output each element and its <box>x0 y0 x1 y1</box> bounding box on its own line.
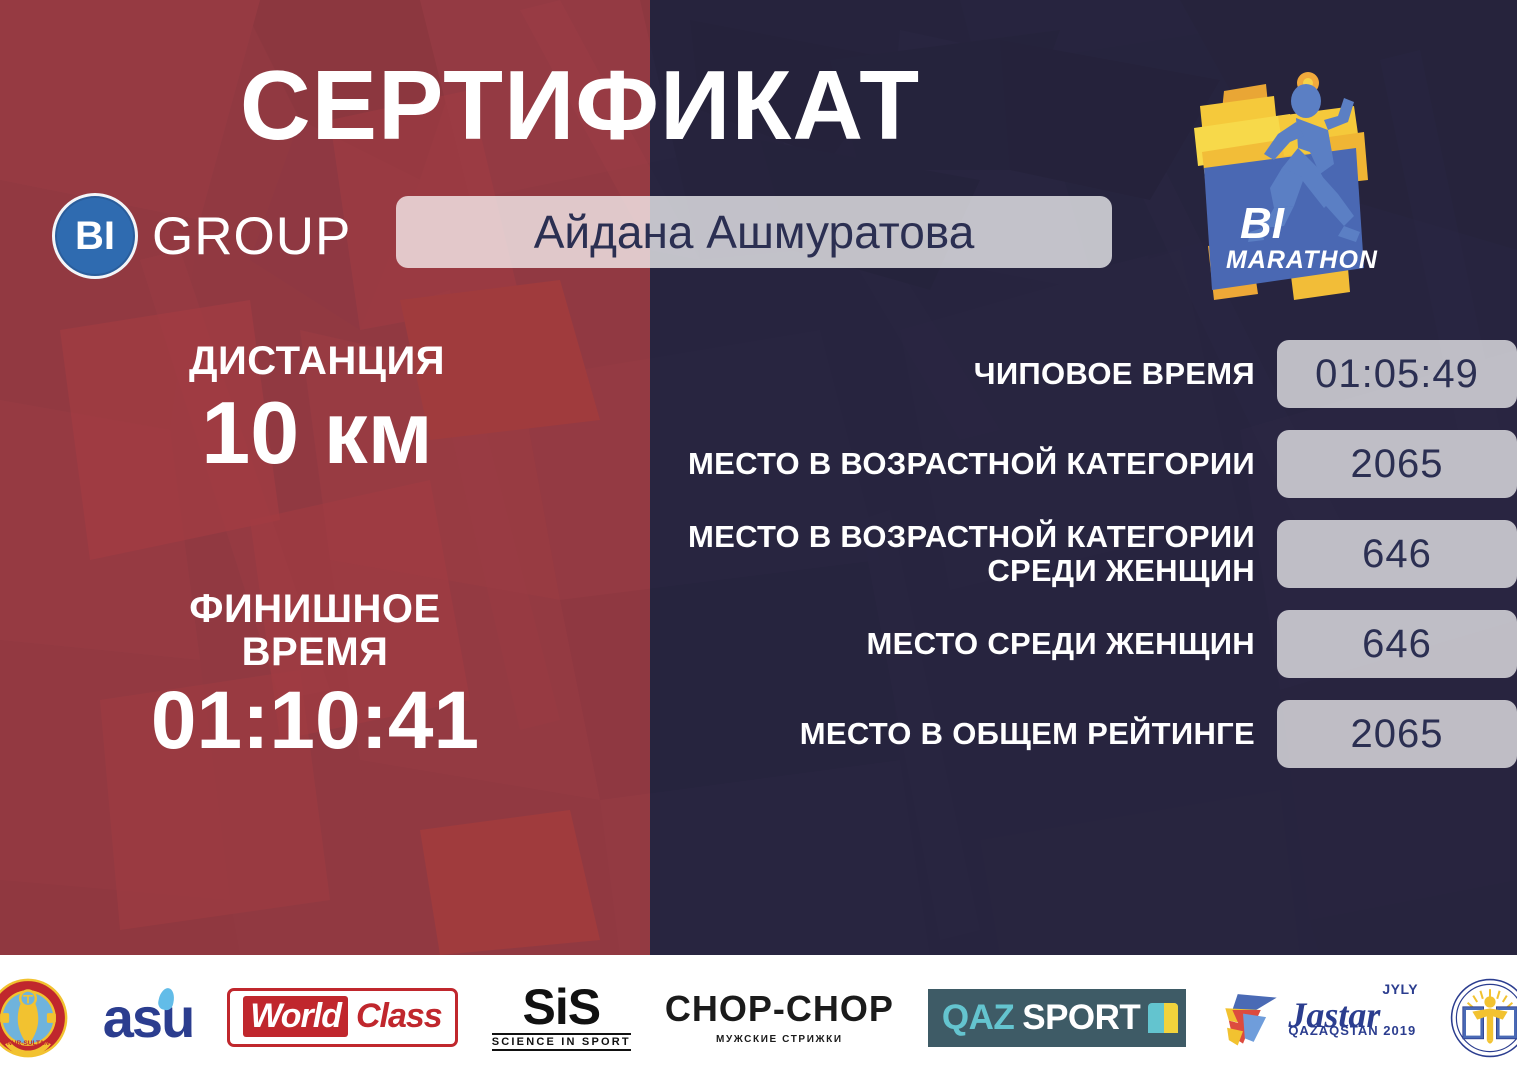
chop-chop-wordmark: CHOP-CHOP <box>665 991 894 1027</box>
qazsport-mark-icon <box>1148 1003 1178 1033</box>
sponsor-logo-jastar-jyly: Jastar JYLY QAZAQSTAN 2019 <box>1220 987 1416 1049</box>
jastar-subtitle: QAZAQSTAN 2019 <box>1288 1023 1416 1038</box>
certificate: СЕРТИФИКАТ BI GROUP Айдана Ашмуратова <box>0 0 1517 1080</box>
page-title: СЕРТИФИКАТ <box>0 56 1160 154</box>
result-label: МЕСТО В ОБЩЕМ РЕЙТИНГЕ <box>800 717 1255 751</box>
nur-sultan-emblem-icon: NUR-SULTAN <box>0 977 69 1059</box>
bi-badge-icon: BI <box>52 193 138 279</box>
world-class-word-a: World <box>243 996 348 1037</box>
participant-name-field: Айдана Ашмуратова <box>396 196 1112 268</box>
sponsor-logo-science-in-sport: SiS SCIENCE IN SPORT <box>492 984 631 1052</box>
marathon-logo-line1: BI <box>1240 199 1285 248</box>
result-label: МЕСТО В ВОЗРАСТНОЙ КАТЕГОРИИ <box>688 447 1255 481</box>
sponsor-logo-ministry <box>1450 978 1517 1058</box>
sponsor-logo-world-class: World Class <box>227 988 457 1047</box>
result-value: 646 <box>1277 610 1517 678</box>
jastar-arrow-icon <box>1220 987 1282 1049</box>
finish-time-label: ФИНИШНОЕ ВРЕМЯ <box>135 588 495 674</box>
sis-tagline: SCIENCE IN SPORT <box>492 1033 631 1051</box>
result-label: ЧИПОВОЕ ВРЕМЯ <box>974 357 1255 391</box>
jastar-jyly-label: JYLY <box>1382 981 1418 997</box>
ministry-emblem-icon <box>1450 978 1517 1058</box>
certificate-content: СЕРТИФИКАТ BI GROUP Айдана Ашмуратова <box>0 0 1517 955</box>
result-row: МЕСТО В ОБЩЕМ РЕЙТИНГЕ 2065 <box>500 700 1517 768</box>
results-list: ЧИПОВОЕ ВРЕМЯ 01:05:49 МЕСТО В ВОЗРАСТНО… <box>500 340 1517 790</box>
marathon-logo-line2: MARATHON <box>1226 246 1378 274</box>
result-value: 646 <box>1277 520 1517 588</box>
result-label: МЕСТО В ВОЗРАСТНОЙ КАТЕГОРИИ СРЕДИ ЖЕНЩИ… <box>615 520 1255 588</box>
chop-chop-tagline: МУЖСКИЕ СТРИЖКИ <box>716 1034 843 1045</box>
asu-wordmark: asu <box>103 990 194 1046</box>
result-value: 2065 <box>1277 700 1517 768</box>
svg-text:NUR-SULTAN: NUR-SULTAN <box>7 1040 49 1047</box>
sponsor-logo-nur-sultan: NUR-SULTAN <box>0 977 69 1059</box>
result-value: 01:05:49 <box>1277 340 1517 408</box>
result-label: МЕСТО СРЕДИ ЖЕНЩИН <box>867 627 1255 661</box>
result-row: МЕСТО СРЕДИ ЖЕНЩИН 646 <box>500 610 1517 678</box>
qazsport-word-a: QAZ <box>942 998 1014 1038</box>
sponsor-logo-chop-chop: CHOP-CHOP МУЖСКИЕ СТРИЖКИ <box>665 991 894 1045</box>
world-class-word-b: Class <box>356 997 442 1036</box>
bi-group-logo: BI GROUP <box>52 193 351 279</box>
result-value: 2065 <box>1277 430 1517 498</box>
result-row: ЧИПОВОЕ ВРЕМЯ 01:05:49 <box>500 340 1517 408</box>
sis-wordmark: SiS <box>522 984 600 1032</box>
result-row: МЕСТО В ВОЗРАСТНОЙ КАТЕГОРИИ 2065 <box>500 430 1517 498</box>
sponsor-logo-asu: asu <box>103 990 194 1046</box>
qazsport-word-b: SPORT <box>1022 998 1140 1038</box>
sponsor-logo-qazsport: QAZ SPORT <box>928 989 1186 1047</box>
result-row: МЕСТО В ВОЗРАСТНОЙ КАТЕГОРИИ СРЕДИ ЖЕНЩИ… <box>500 520 1517 588</box>
sponsor-bar: NUR-SULTAN asu World Class SiS SCIENCE I… <box>0 955 1517 1080</box>
bi-marathon-logo: BI MARATHON <box>1178 56 1398 311</box>
bi-group-wordmark: GROUP <box>152 206 351 267</box>
